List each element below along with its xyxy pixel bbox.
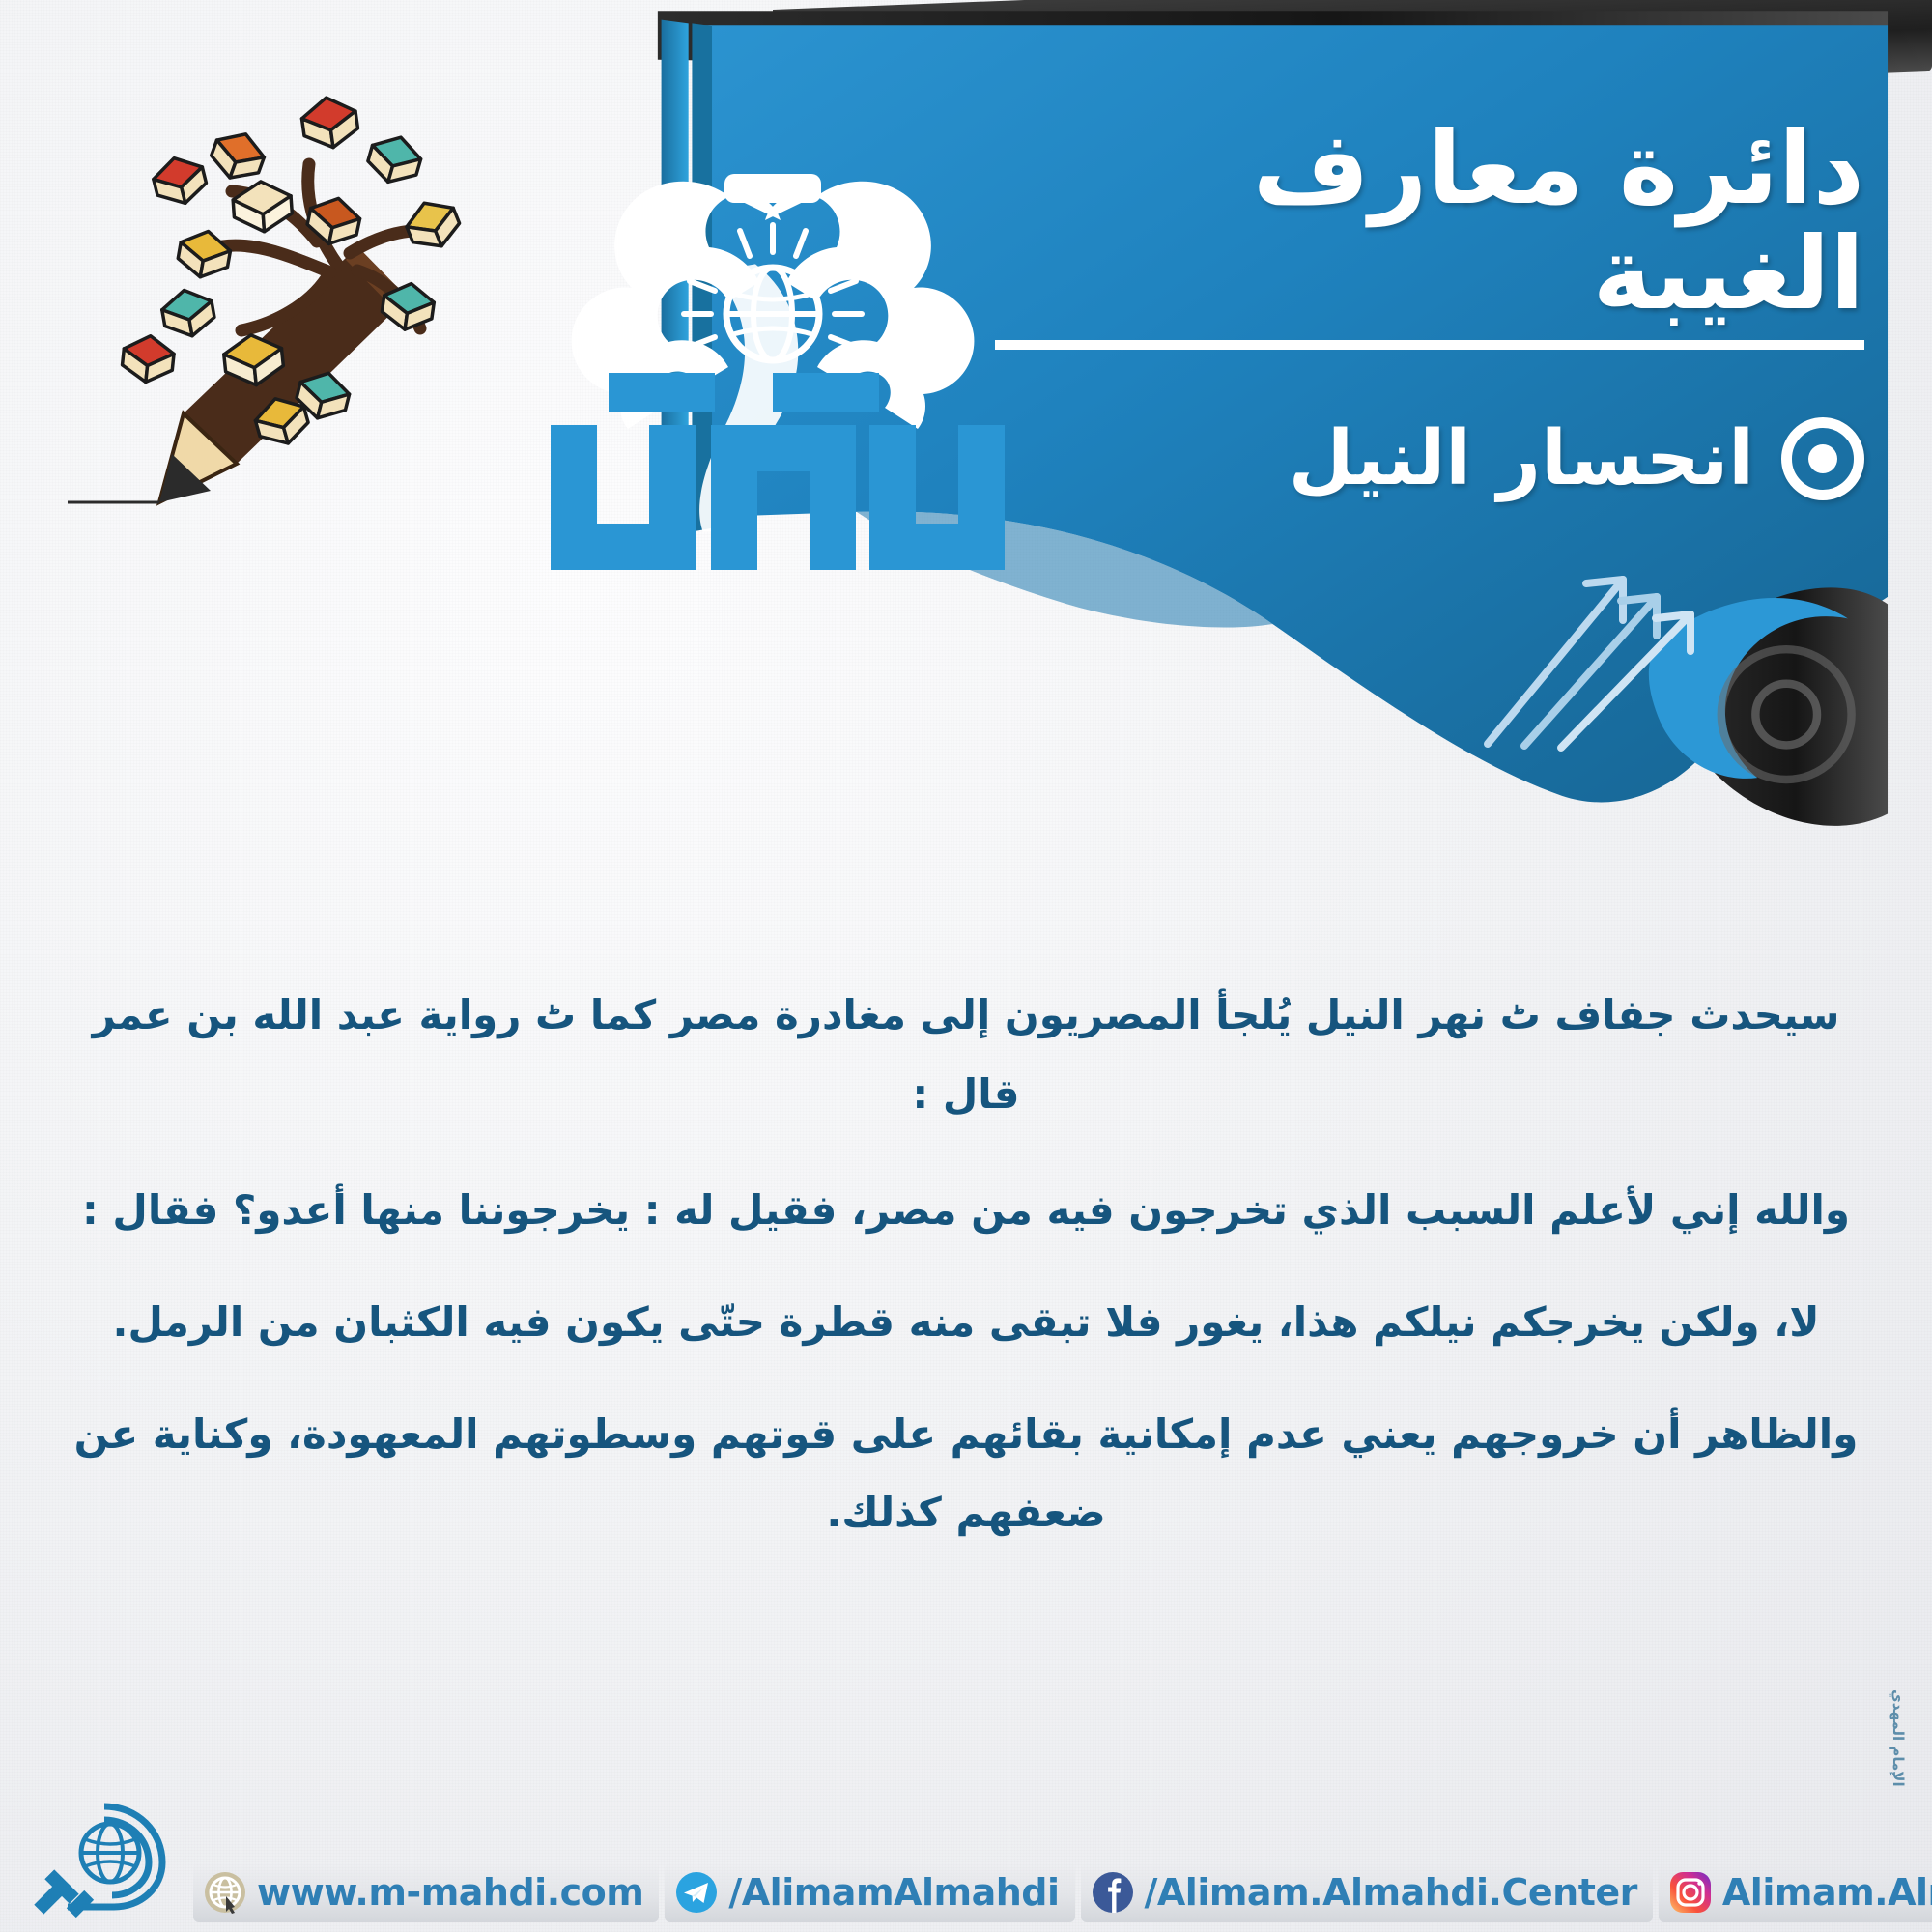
banner-subtitle-row: انحسار النيل: [1289, 415, 1864, 502]
almahdi-center-logo: [29, 1799, 184, 1924]
paragraph: والظاهر أن خروجهم يعني عدم إمكانية بقائه…: [58, 1395, 1874, 1553]
paragraph: سيحدث جفاف ﭦ نهر النيل يُلجأ المصريون إل…: [58, 976, 1874, 1134]
social-link-telegram[interactable]: /AlimamAlmahdi: [665, 1862, 1074, 1922]
article-body: سيحدث جفاف ﭦ نهر النيل يُلجأ المصريون إل…: [58, 976, 1874, 1585]
social-label-instagram: Alimam.Almahdi.Center: [1722, 1871, 1932, 1914]
page-title: دائرة معارف الغيبة: [995, 116, 1864, 350]
social-link-instagram[interactable]: Alimam.Almahdi.Center: [1659, 1862, 1932, 1922]
book-tree-pencil-illustration: [68, 48, 570, 551]
poster-canvas: دائرة معارف الغيبة انحسار النيل سيحدث جف…: [0, 0, 1932, 1932]
telegram-icon: [674, 1870, 719, 1915]
paragraph: لا، ولكن يخرجكم نيلكم هذا، يغور فلا تبقى…: [58, 1283, 1874, 1362]
social-label-facebook: /Alimam.Almahdi.Center: [1145, 1871, 1637, 1914]
social-label-telegram: /AlimamAlmahdi: [728, 1871, 1059, 1914]
banner-subtitle: انحسار النيل: [1289, 415, 1754, 502]
social-links: www.m-mahdi.com /AlimamAlmahdi: [193, 1862, 1932, 1922]
footer-bar: www.m-mahdi.com /AlimamAlmahdi: [0, 1797, 1932, 1932]
instagram-icon: [1668, 1870, 1713, 1915]
paragraph: والله إني لأعلم السبب الذي تخرجون فيه من…: [58, 1171, 1874, 1250]
social-label-website: www.m-mahdi.com: [257, 1871, 643, 1914]
social-link-facebook[interactable]: /Alimam.Almahdi.Center: [1081, 1862, 1653, 1922]
globe-website-icon: [203, 1870, 247, 1915]
social-link-website[interactable]: www.m-mahdi.com: [193, 1862, 659, 1922]
ring-target-icon: [1781, 417, 1864, 500]
facebook-icon: [1091, 1870, 1135, 1915]
triple-arrow-icon: [1478, 541, 1768, 753]
banner-title-block: دائرة معارف الغيبة: [995, 116, 1864, 350]
watermark-text: الإمام المهدي: [1889, 1690, 1907, 1787]
